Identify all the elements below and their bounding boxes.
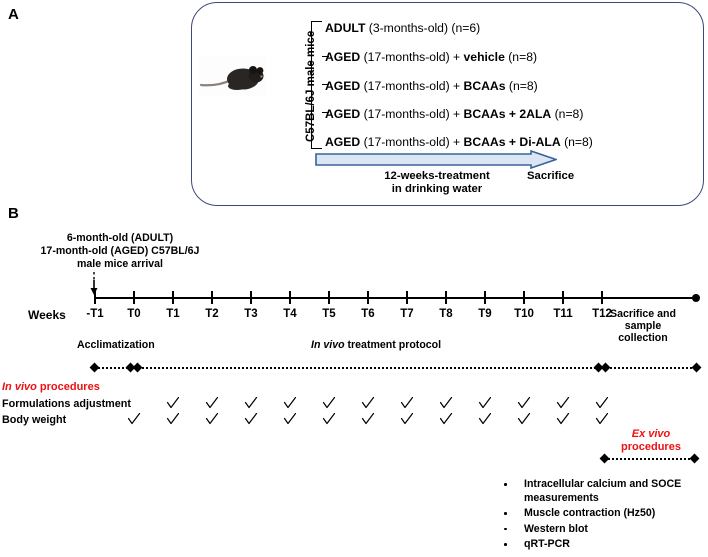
- body-weight-check-icon: [556, 412, 570, 426]
- acclimatization-label: Acclimatization: [77, 339, 155, 351]
- sacrifice-arrow-label: Sacrifice: [527, 170, 617, 182]
- body-weight-check-icon: [127, 412, 141, 426]
- body-weight-check-icon: [166, 412, 180, 426]
- timeline-tick: [523, 291, 525, 304]
- in-vivo-proc-rest: procedures: [37, 381, 100, 393]
- phase-marker: [89, 363, 99, 373]
- group-bold-primary: ADULT: [325, 21, 365, 35]
- formulations-check-icon: [517, 396, 531, 410]
- timeline-end-dot: [692, 294, 700, 302]
- tick-label: T3: [229, 308, 273, 320]
- formulations-check-icon: [283, 396, 297, 410]
- tick-label: T1: [151, 308, 195, 320]
- timeline-tick: [367, 291, 369, 304]
- timeline-tick: [484, 291, 486, 304]
- list-item-label: Muscle contraction (Hz50): [524, 507, 655, 519]
- tick-label: -T1: [73, 308, 117, 320]
- list-item: Muscle contraction (Hz50): [500, 507, 708, 521]
- group-bold-primary: AGED: [325, 79, 360, 93]
- formulations-check-icon: [400, 396, 414, 410]
- tick-label: T5: [307, 308, 351, 320]
- group-rest: (n=8): [551, 107, 583, 121]
- group-row: AGED (17-months-old) + BCAAs + 2ALA (n=8…: [325, 106, 655, 122]
- formulations-check-icon: [244, 396, 258, 410]
- group-row: AGED (17-months-old) + BCAAs (n=8): [325, 78, 655, 94]
- ex-vivo-marker: [689, 454, 699, 464]
- timeline-tick: [445, 291, 447, 304]
- tick-label: T2: [190, 308, 234, 320]
- panel-b-letter: B: [8, 205, 19, 222]
- body-weight-check-icon: [517, 412, 531, 426]
- timeline-tick: [172, 291, 174, 304]
- sacrifice-collection-label: Sacrifice and sample collection: [600, 308, 686, 344]
- body-weight-check-icon: [439, 412, 453, 426]
- timeline-tick: [562, 291, 564, 304]
- ex-vivo-italic: Ex vivo: [632, 428, 671, 440]
- list-item: Western blot: [500, 523, 708, 537]
- tick-label: T0: [112, 308, 156, 320]
- ex-vivo-procedures-label: Ex vivo procedures: [604, 428, 698, 453]
- ex-vivo-marker: [599, 454, 609, 464]
- body-weight-check-icon: [244, 412, 258, 426]
- group-row: ADULT (3-months-old) (n=6): [325, 20, 655, 36]
- in-vivo-rest: treatment protocol: [345, 339, 442, 351]
- in-vivo-procedures-label: In vivo procedures: [2, 381, 100, 393]
- weeks-label: Weeks: [28, 308, 66, 322]
- formulations-check-icon: [556, 396, 570, 410]
- sacrifice-line2: sample: [600, 320, 686, 332]
- ex-vivo-items-list: Intracellular calcium and SOCE measureme…: [500, 478, 708, 554]
- formulations-check-icon: [322, 396, 336, 410]
- group-rest: (n=8): [505, 50, 537, 64]
- mouse-photo-image: [199, 55, 267, 97]
- timeline-tick: [601, 291, 603, 304]
- arrival-note-line2: 17-month-old (AGED) C57BL/6J: [20, 245, 220, 258]
- body-weight-check-icon: [478, 412, 492, 426]
- body-weight-row-label: Body weight: [2, 414, 66, 426]
- list-item-label: Western blot: [524, 523, 588, 535]
- timeline-tick: [211, 291, 213, 304]
- formulations-check-icon: [205, 396, 219, 410]
- timeline-tick: [94, 291, 96, 304]
- body-weight-check-icon: [400, 412, 414, 426]
- tick-label: T6: [346, 308, 390, 320]
- group-bold-primary: AGED: [325, 50, 360, 64]
- group-rest: (n=8): [506, 79, 538, 93]
- arrival-note-line3: male mice arrival: [20, 258, 220, 271]
- in-vivo-italic: In vivo: [311, 339, 345, 351]
- body-weight-check-icon: [283, 412, 297, 426]
- treatment-caption-line2: in drinking water: [332, 183, 542, 195]
- bullet-dot-icon: [504, 483, 507, 486]
- body-weight-check-icon: [322, 412, 336, 426]
- tick-label: T9: [463, 308, 507, 320]
- tick-label: T7: [385, 308, 429, 320]
- group-rest: (n=8): [561, 135, 593, 149]
- timeline-axis: [94, 297, 696, 299]
- group-bold-secondary: BCAAs + 2ALA: [464, 107, 552, 121]
- timeline-tick: [406, 291, 408, 304]
- tick-label: T8: [424, 308, 468, 320]
- phase-marker: [132, 363, 142, 373]
- formulations-check-icon: [361, 396, 375, 410]
- group-bracket: [311, 21, 322, 149]
- tick-label: T10: [502, 308, 546, 320]
- body-weight-check-icon: [595, 412, 609, 426]
- formulations-check-icon: [166, 396, 180, 410]
- tick-label: T11: [541, 308, 585, 320]
- ex-vivo-rest: procedures: [621, 441, 681, 453]
- formulations-check-icon: [478, 396, 492, 410]
- formulations-check-icon: [595, 396, 609, 410]
- body-weight-check-icon: [205, 412, 219, 426]
- group-bold-primary: AGED: [325, 107, 360, 121]
- list-item-label: qRT-PCR: [524, 538, 570, 550]
- treatment-arrow-icon: [315, 150, 557, 169]
- group-mid: (17-months-old) +: [360, 107, 463, 121]
- group-mid: (17-months-old) +: [360, 79, 463, 93]
- bullet-dot-icon: [504, 512, 507, 515]
- arrival-note-line1: 6-month-old (ADULT): [20, 232, 220, 245]
- phase-marker: [600, 363, 610, 373]
- ex-vivo-dotted-line: [604, 458, 694, 460]
- group-bold-secondary: BCAAs: [464, 79, 506, 93]
- group-bold-secondary: BCAAs + Di-ALA: [464, 135, 561, 149]
- timeline-tick: [250, 291, 252, 304]
- list-item: qRT-PCR: [500, 538, 708, 552]
- timeline-tick: [289, 291, 291, 304]
- timeline-tick: [133, 291, 135, 304]
- phase-marker: [691, 363, 701, 373]
- bullet-dot-icon: [504, 528, 507, 531]
- group-rest: (3-months-old) (n=6): [365, 21, 480, 35]
- treatment-caption-line1: 12-weeks-treatment: [332, 170, 542, 182]
- formulations-check-icon: [439, 396, 453, 410]
- timeline-tick: [328, 291, 330, 304]
- tick-label: T4: [268, 308, 312, 320]
- list-item-label: Intracellular calcium and SOCE measureme…: [524, 478, 681, 504]
- bullet-dot-icon: [504, 543, 507, 546]
- panel-a-letter: A: [8, 6, 19, 23]
- list-item: Intracellular calcium and SOCE measureme…: [500, 478, 708, 505]
- sacrifice-line1: Sacrifice and: [600, 308, 686, 320]
- in-vivo-proc-italic: In vivo: [2, 381, 37, 393]
- body-weight-check-icon: [361, 412, 375, 426]
- group-row: AGED (17-months-old) + BCAAs + Di-ALA (n…: [325, 134, 655, 150]
- formulations-row-label: Formulations adjustment: [2, 398, 131, 410]
- arrival-note: 6-month-old (ADULT) 17-month-old (AGED) …: [20, 232, 220, 271]
- group-row: AGED (17-months-old) + vehicle (n=8): [325, 49, 655, 65]
- in-vivo-protocol-label: In vivo treatment protocol: [311, 339, 441, 351]
- group-mid: (17-months-old) +: [360, 50, 463, 64]
- group-bold-secondary: vehicle: [464, 50, 505, 64]
- group-bold-primary: AGED: [325, 135, 360, 149]
- group-mid: (17-months-old) +: [360, 135, 463, 149]
- sacrifice-line3: collection: [600, 332, 686, 344]
